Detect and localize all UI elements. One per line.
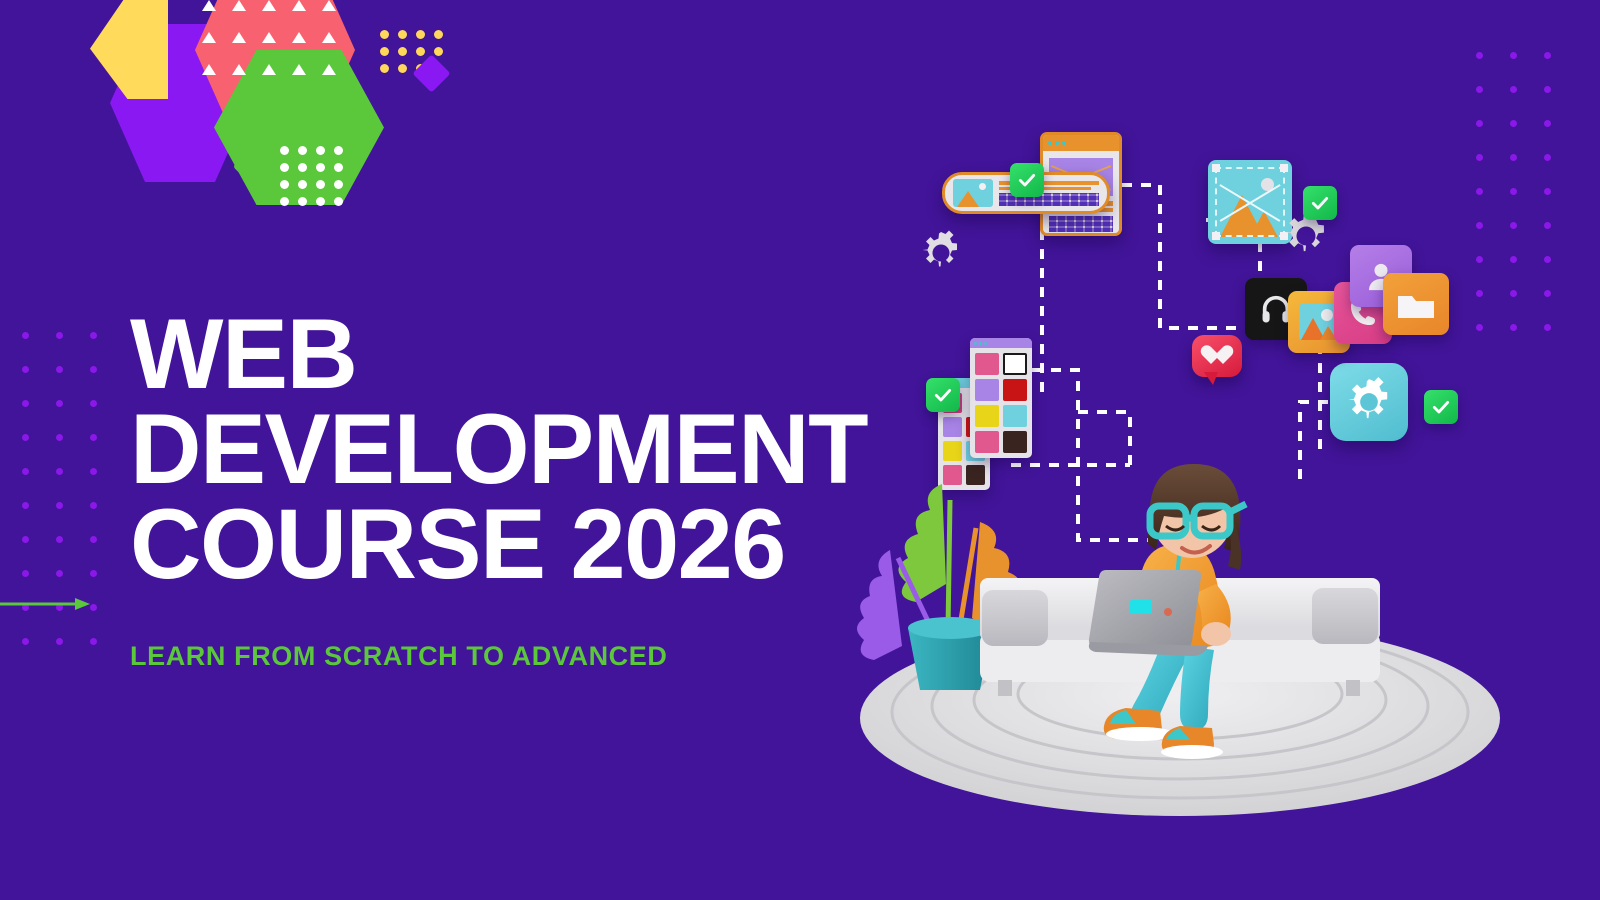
laptop[interactable] (1089, 570, 1208, 656)
hexagon-decoration-cluster (90, 0, 390, 224)
folder-icon (1395, 287, 1437, 321)
heart-like-bubble[interactable] (1192, 335, 1242, 377)
title-line-1: WEB (130, 306, 890, 401)
character-hand-right (1201, 622, 1231, 646)
app-tile-folder[interactable] (1383, 273, 1449, 335)
check-badge-4 (1424, 390, 1458, 424)
crop-handle-bl[interactable] (1212, 232, 1220, 240)
illustration-stage (830, 60, 1530, 820)
promo-banner: WEB DEVELOPMENT COURSE 2026 LEARN FROM S… (0, 0, 1600, 900)
mountain-icon (957, 191, 979, 207)
crop-handle-tr[interactable] (1280, 164, 1288, 172)
page-title: WEB DEVELOPMENT COURSE 2026 (130, 306, 890, 591)
swatch[interactable] (943, 441, 962, 461)
browser-dot-1 (1048, 141, 1052, 145)
crop-handle-tl[interactable] (1212, 164, 1220, 172)
sofa-cushion-right (1312, 588, 1378, 644)
swatch[interactable] (943, 417, 962, 437)
check-badge-2 (1303, 186, 1337, 220)
left-dot-grid (22, 332, 124, 672)
sun-icon (979, 183, 986, 190)
laptop-logo (1130, 600, 1152, 614)
swatch[interactable] (1003, 353, 1027, 375)
heart-icon (1206, 346, 1228, 366)
check-badge-1 (1010, 163, 1044, 197)
text-block-placeholder (1049, 216, 1113, 232)
swatch[interactable] (1003, 379, 1027, 401)
white-triangle-grid (202, 0, 352, 96)
check-badge-3 (926, 378, 960, 412)
gear-icon (1343, 376, 1395, 428)
swatch[interactable] (975, 431, 999, 453)
palette-title-bar (970, 338, 1032, 348)
sofa-cushion-left (982, 590, 1048, 646)
color-palette-panel-front[interactable] (970, 338, 1032, 458)
browser-title-bar (1043, 135, 1119, 151)
leaf-green (898, 484, 946, 602)
thumbnail-image-icon (953, 179, 993, 207)
headline-block: WEB DEVELOPMENT COURSE 2026 LEARN FROM S… (130, 306, 890, 672)
swatch[interactable] (1003, 431, 1027, 453)
gear-icon-left (916, 228, 966, 278)
subtitle: LEARN FROM SCRATCH TO ADVANCED (130, 641, 890, 672)
check-icon (1017, 170, 1037, 190)
settings-gear-tile[interactable] (1330, 363, 1408, 441)
browser-dot-2 (1055, 141, 1059, 145)
palette-swatches (970, 348, 1032, 458)
crop-marquee (1215, 167, 1285, 237)
swatch[interactable] (975, 379, 999, 401)
white-dot-grid (280, 146, 352, 214)
swatch[interactable] (975, 353, 999, 375)
swatch[interactable] (975, 405, 999, 427)
check-icon (1431, 397, 1451, 417)
swatch[interactable] (1003, 405, 1027, 427)
title-line-2: DEVELOPMENT (130, 401, 890, 496)
laptop-dot (1164, 608, 1172, 616)
leaf-purple (857, 550, 902, 660)
hexagon-overlap-yellow (90, 0, 168, 99)
title-line-3: COURSE 2026 (130, 496, 890, 591)
check-icon (1310, 193, 1330, 213)
check-icon (933, 385, 953, 405)
green-arrow-icon (0, 598, 90, 610)
bubble-tail (1204, 372, 1218, 385)
room-scene-illustration (830, 460, 1530, 820)
browser-dot-3 (1062, 141, 1066, 145)
